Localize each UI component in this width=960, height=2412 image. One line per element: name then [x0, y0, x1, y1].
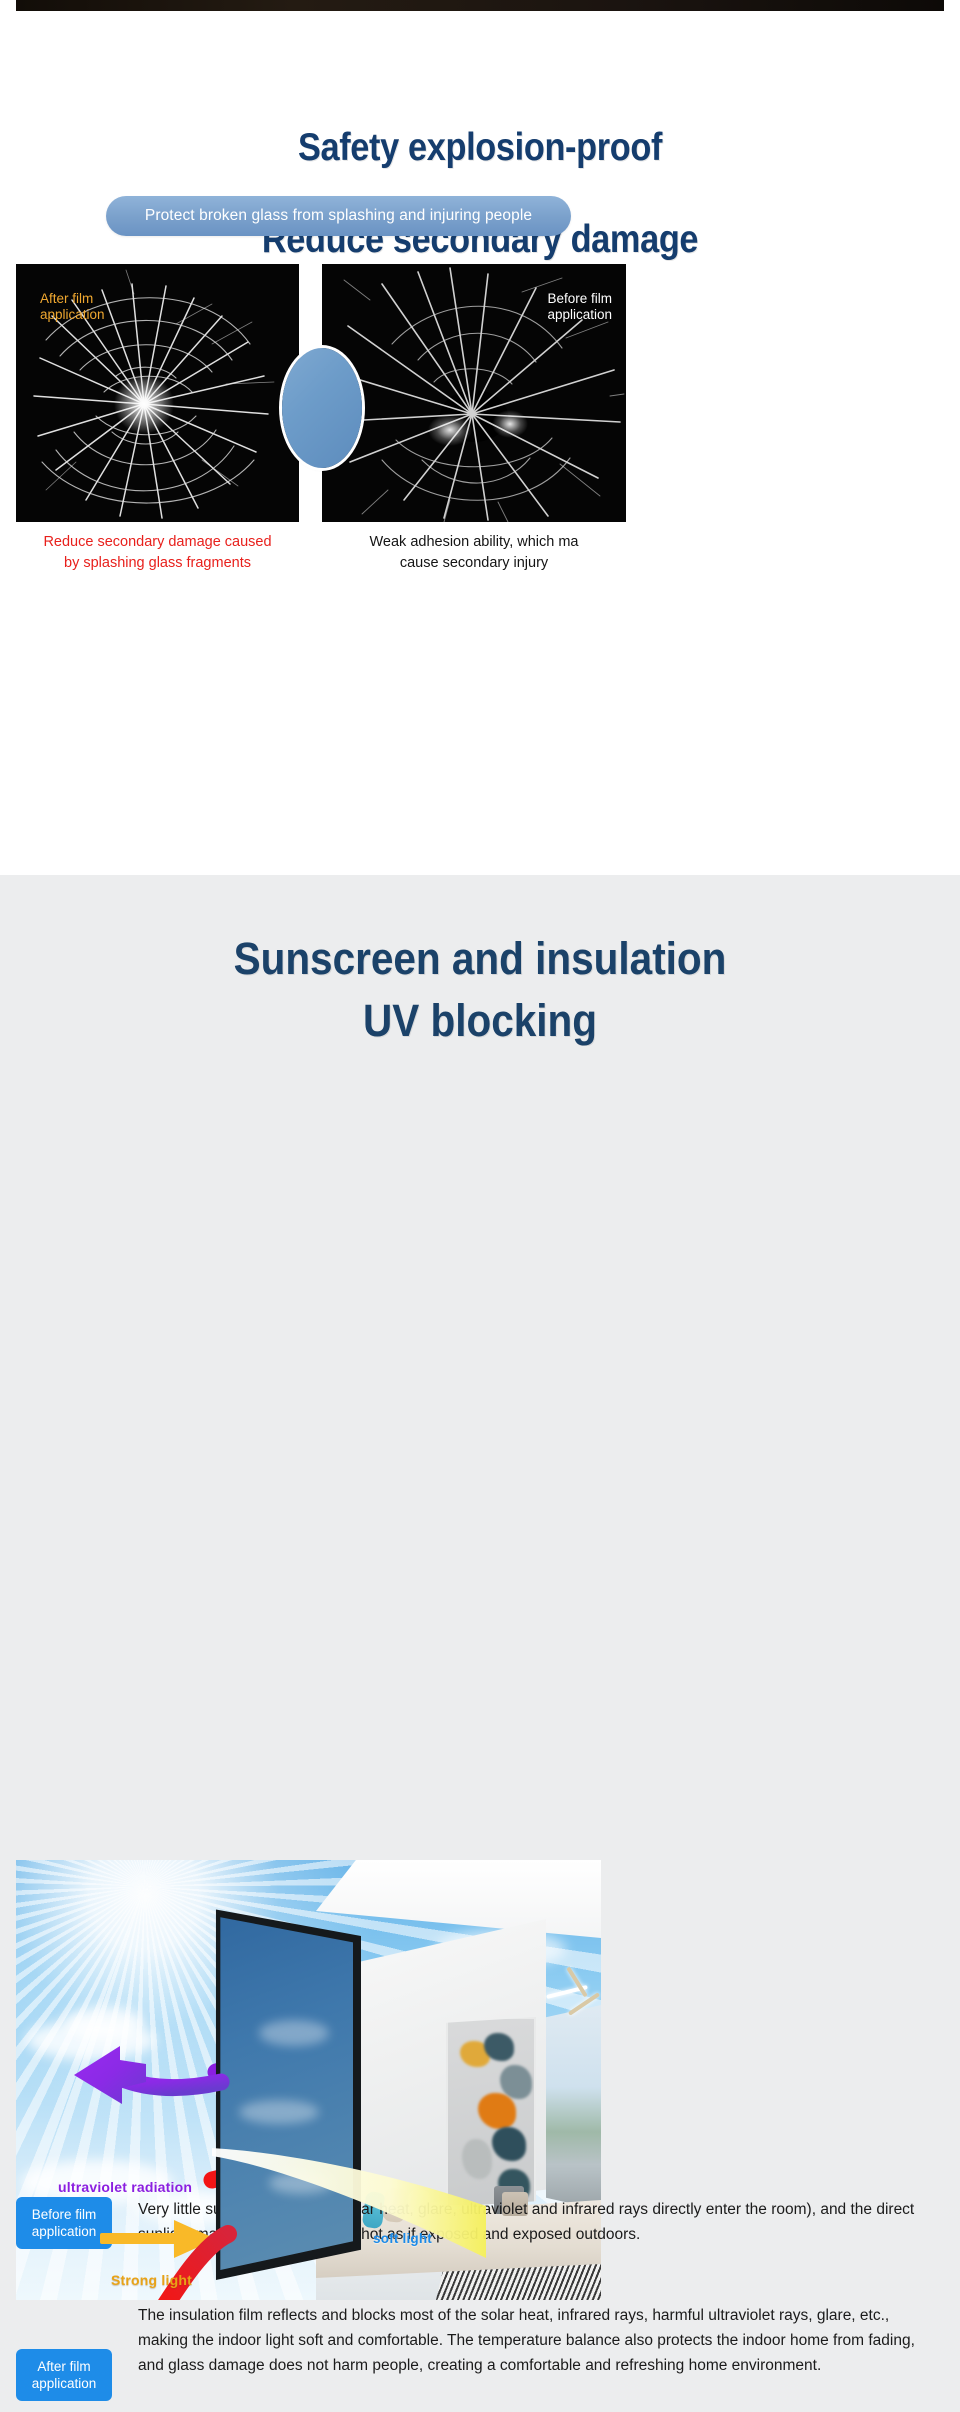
comparison-divider-oval — [282, 348, 362, 468]
badge-after-film: After film application — [16, 2349, 112, 2401]
before-film-image: Before film application — [322, 264, 626, 522]
after-film-caption: Reduce secondary damage caused by splash… — [16, 532, 299, 574]
light-ray-arrows — [16, 1860, 601, 2300]
soft-light-ray — [212, 2148, 486, 2258]
glass-comparison: After film application — [16, 264, 944, 522]
safety-subtitle-text: Protect broken glass from splashing and … — [145, 207, 532, 225]
before-film-label: Before film application — [547, 291, 612, 323]
ultraviolet-label: ultraviolet radiation — [58, 2179, 192, 2195]
safety-subtitle-pill: Protect broken glass from splashing and … — [106, 196, 571, 236]
insulation-heading: Sunscreen and insulation UV blocking — [48, 928, 912, 1052]
after-film-label: After film application — [40, 291, 105, 323]
insulation-heading-line2: UV blocking — [48, 990, 912, 1052]
soft-light-label: soft light — [373, 2231, 432, 2246]
uv-blocking-illustration: ultraviolet radiation Strong light infra… — [16, 1860, 601, 2300]
after-film-row: After film application The insulation fi… — [16, 2303, 944, 2401]
safety-heading-line1: Safety explosion-proof — [58, 125, 903, 171]
insulation-section: Sunscreen and insulation UV blocking — [0, 875, 960, 2412]
uv-arrow — [74, 2046, 221, 2104]
product-detail-page: Safety explosion-proof Reduce secondary … — [0, 0, 960, 2412]
after-film-description: The insulation film reflects and blocks … — [138, 2303, 918, 2378]
before-film-caption: Weak adhesion ability, which ma cause se… — [322, 532, 626, 574]
safety-section: Safety explosion-proof Reduce secondary … — [0, 11, 960, 875]
top-black-strip — [16, 0, 944, 11]
insulation-heading-line1: Sunscreen and insulation — [48, 928, 912, 990]
strong-light-label: Strong light — [111, 2272, 192, 2288]
after-film-image: After film application — [16, 264, 299, 522]
